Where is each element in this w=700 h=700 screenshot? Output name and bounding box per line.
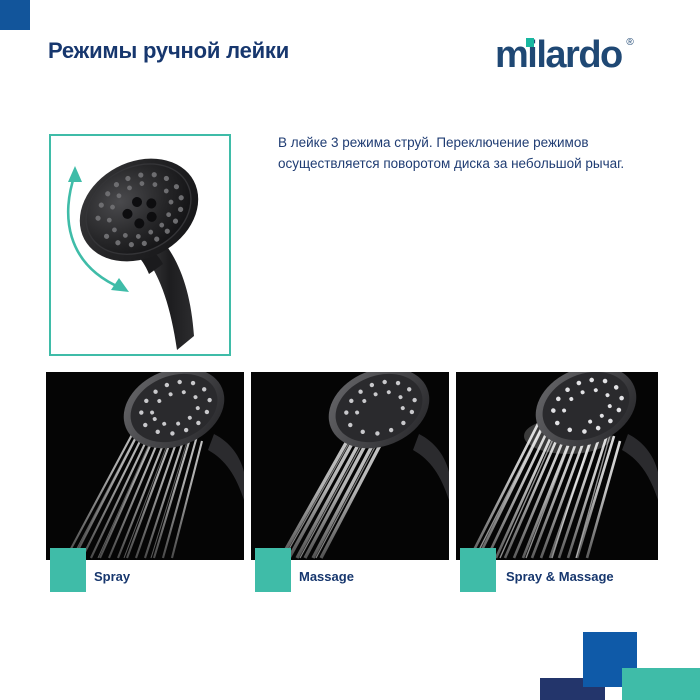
mode-label-spray: Spray <box>94 569 130 584</box>
mode-panel-spray[interactable]: Spray <box>46 372 244 598</box>
brand-logo-dot-accent <box>526 38 534 47</box>
mode-caption-massage: Massage <box>251 556 449 598</box>
mode-panel-massage[interactable]: Massage <box>251 372 449 598</box>
registered-trademark-symbol: ® <box>626 38 633 48</box>
hero-shower-head-image <box>51 136 229 354</box>
massage-illustration <box>251 372 449 560</box>
mode-badge-spray-and-massage <box>460 548 496 592</box>
spray-and-massage-illustration <box>456 372 658 560</box>
page-title: Режимы ручной лейки <box>48 38 289 64</box>
mode-caption-spray-and-massage: Spray & Massage <box>456 556 658 598</box>
mode-photo-spray <box>46 372 244 560</box>
mode-photo-massage <box>251 372 449 560</box>
spray-illustration <box>46 372 244 560</box>
mode-caption-spray: Spray <box>46 556 244 598</box>
hero-image-frame <box>49 134 231 356</box>
brand-logo: milardo ® <box>495 36 622 74</box>
mode-panel-spray-and-massage[interactable]: Spray & Massage <box>456 372 658 598</box>
brand-logo-wordmark: milardo <box>495 34 622 76</box>
mode-label-spray-and-massage: Spray & Massage <box>506 569 614 584</box>
mode-label-massage: Massage <box>299 569 354 584</box>
mode-photo-spray-and-massage <box>456 372 658 560</box>
mode-badge-massage <box>255 548 291 592</box>
arrow-head-up <box>68 166 82 182</box>
corner-accent-top-left <box>0 0 30 30</box>
intro-paragraph: В лейке 3 режима струй. Переключение реж… <box>278 133 660 175</box>
mode-badge-spray <box>50 548 86 592</box>
corner-accent-teal <box>622 668 700 700</box>
